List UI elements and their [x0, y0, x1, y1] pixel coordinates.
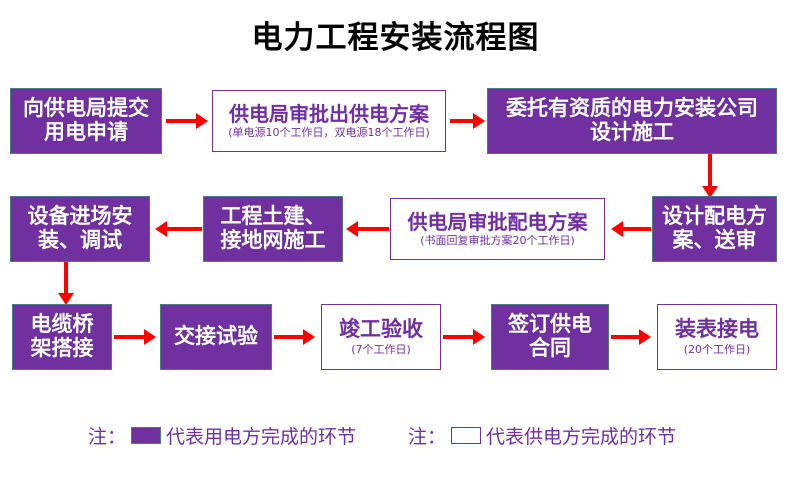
page-title: 电力工程安装流程图: [0, 18, 791, 58]
arrowhead-right-icon: [144, 329, 156, 345]
connector-n7-to-n8: [64, 262, 68, 295]
arrowhead-right-icon: [303, 329, 315, 345]
legend-prefix: 注：: [88, 422, 126, 449]
node-title: 设计配电方 案、送审: [662, 205, 767, 252]
flowchart-canvas: 电力工程安装流程图 向供电局提交 用电申请 供电局审批出供电方案 (单电源10个…: [0, 0, 791, 502]
node-civil-works-grounding[interactable]: 工程土建、 接地网施工: [203, 196, 343, 262]
connector-n9-to-n10: [274, 335, 305, 339]
arrowhead-right-icon: [639, 329, 651, 345]
connector-n2-to-n3: [450, 119, 475, 123]
node-subtitle: (书面回复审批方案20个工作日): [420, 235, 575, 247]
node-title: 供电局审批配电方案: [408, 211, 588, 233]
node-title: 设备进场安 装、调试: [28, 205, 133, 252]
node-subtitle: (7个工作日): [351, 344, 411, 356]
connector-n4-to-n5: [623, 227, 651, 231]
legend-customer-side: 注： 代表用电方完成的环节: [88, 422, 356, 449]
arrowhead-right-icon: [473, 329, 485, 345]
node-power-bureau-approve-distribution-plan[interactable]: 供电局审批配电方案 (书面回复审批方案20个工作日): [390, 198, 605, 260]
node-title: 供电局审批出供电方案: [229, 103, 429, 125]
node-subtitle: (20个工作日): [684, 344, 751, 356]
arrowhead-right-icon: [196, 113, 208, 129]
node-meter-install-connect[interactable]: 装表接电 (20个工作日): [657, 304, 777, 370]
node-sign-power-supply-contract[interactable]: 签订供电 合同: [491, 304, 609, 370]
node-title: 工程土建、 接地网施工: [221, 205, 326, 252]
node-title: 装表接电: [675, 318, 759, 342]
connector-n10-to-n11: [443, 335, 475, 339]
node-title: 签订供电 合同: [508, 313, 592, 360]
node-entrust-installation-company[interactable]: 委托有资质的电力安装公司 设计施工: [487, 88, 777, 154]
connector-n8-to-n9: [114, 335, 146, 339]
node-title: 竣工验收: [339, 318, 423, 342]
legend-swatch-outline: [451, 427, 481, 444]
node-design-distribution-plan-submit[interactable]: 设计配电方 案、送审: [652, 196, 777, 262]
legend-label: 代表用电方完成的环节: [166, 422, 356, 449]
node-title: 向供电局提交 用电申请: [23, 97, 149, 144]
node-equipment-install-debug[interactable]: 设备进场安 装、调试: [10, 196, 150, 262]
node-submit-application[interactable]: 向供电局提交 用电申请: [10, 88, 162, 154]
node-title: 交接试验: [174, 325, 258, 349]
node-completion-acceptance[interactable]: 竣工验收 (7个工作日): [321, 304, 441, 370]
arrowhead-left-icon: [155, 221, 167, 237]
node-handover-test[interactable]: 交接试验: [160, 304, 272, 370]
connector-n5-to-n6: [358, 227, 389, 231]
legend-label: 代表供电方完成的环节: [486, 422, 676, 449]
node-power-bureau-approve-supply-plan[interactable]: 供电局审批出供电方案 (单电源10个工作日，双电源18个工作日): [212, 90, 446, 152]
node-title: 委托有资质的电力安装公司 设计施工: [506, 97, 758, 144]
legend-utility-side: 注： 代表供电方完成的环节: [408, 422, 676, 449]
legend-prefix: 注：: [408, 422, 446, 449]
connector-n3-to-n4: [708, 154, 712, 188]
node-title: 电缆桥 架搭接: [31, 313, 94, 360]
connector-n1-to-n2: [166, 119, 198, 123]
arrowhead-right-icon: [473, 113, 485, 129]
node-subtitle: (单电源10个工作日，双电源18个工作日): [228, 127, 430, 139]
node-cable-tray-splicing[interactable]: 电缆桥 架搭接: [12, 304, 112, 370]
connector-n6-to-n7: [167, 227, 202, 231]
arrowhead-left-icon: [611, 221, 623, 237]
legend-swatch-filled: [131, 427, 161, 444]
arrowhead-left-icon: [346, 221, 358, 237]
connector-n11-to-n12: [611, 335, 641, 339]
